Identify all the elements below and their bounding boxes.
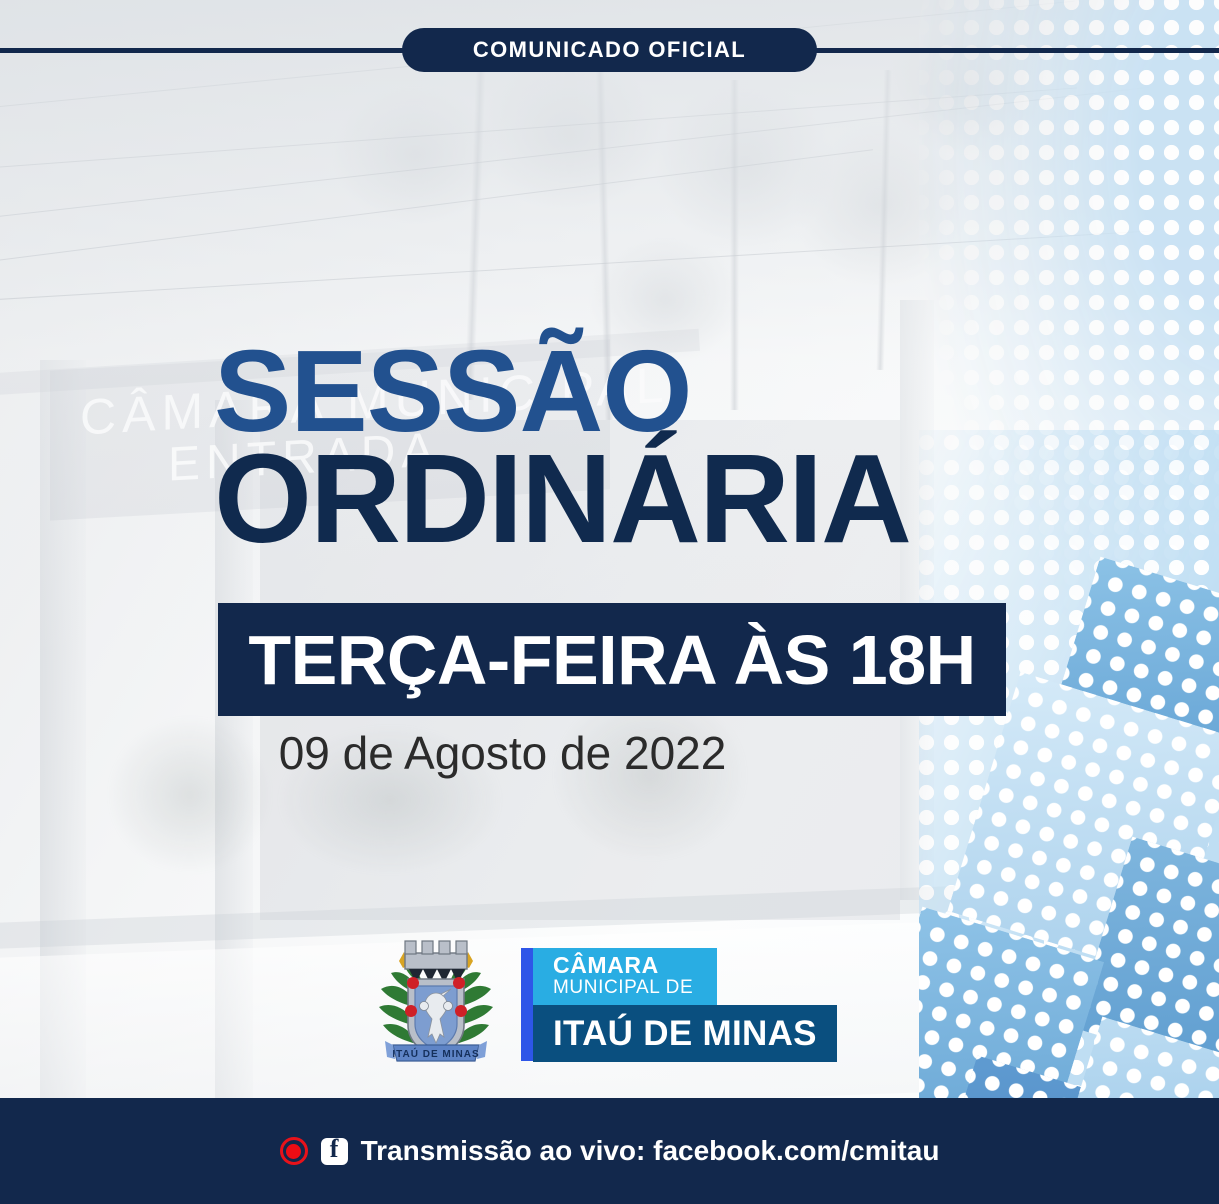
livestream-label[interactable]: Transmissão ao vivo: facebook.com/cmitau <box>361 1135 940 1167</box>
official-notice-badge: COMUNICADO OFICIAL <box>402 28 817 72</box>
palm-foliage <box>300 60 530 250</box>
coat-of-arms-icon: ITAÚ DE MINAS <box>375 933 497 1065</box>
brand-line-3: ITAÚ DE MINAS <box>553 1014 817 1054</box>
power-line <box>0 87 1077 169</box>
poster-canvas: CÂMARA MUNICIPAL ENTRADA <box>0 0 1219 1204</box>
header-rule-left <box>0 48 420 53</box>
palm-foliage <box>620 50 870 280</box>
facebook-icon[interactable] <box>321 1138 348 1165</box>
palm-trunk <box>876 70 892 370</box>
footer-bar: Transmissão ao vivo: facebook.com/cmitau <box>0 1098 1219 1204</box>
session-time-banner: TERÇA-FEIRA ÀS 18H <box>218 603 1006 716</box>
brand-line-1: CÂMARA <box>553 954 717 977</box>
headline-line-2: ORDINÁRIA <box>214 441 1014 557</box>
halftone-decoration-panel <box>919 0 1219 1204</box>
svg-text:ITAÚ DE MINAS: ITAÚ DE MINAS <box>392 1047 479 1060</box>
brand-block: ITAÚ DE MINAS CÂMARA MUNICIPAL DE ITAÚ D… <box>375 933 837 1065</box>
brand-accent-bar <box>521 948 533 1061</box>
session-time-label: TERÇA-FEIRA ÀS 18H <box>248 620 975 700</box>
record-icon <box>280 1137 308 1165</box>
headline-block: SESSÃO ORDINÁRIA <box>214 338 1014 557</box>
hedge-shrub <box>80 690 300 900</box>
official-notice-label: COMUNICADO OFICIAL <box>473 37 746 63</box>
header-rule-right <box>799 48 1219 53</box>
session-date: 09 de Agosto de 2022 <box>0 726 1219 780</box>
power-line <box>0 149 873 263</box>
footer-content: Transmissão ao vivo: facebook.com/cmitau <box>280 1135 940 1167</box>
session-date-label: 09 de Agosto de 2022 <box>279 726 727 780</box>
brand-line-2: MUNICIPAL DE <box>553 977 717 999</box>
brand-city-box: ITAÚ DE MINAS <box>533 1005 837 1062</box>
brand-lockup: CÂMARA MUNICIPAL DE ITAÚ DE MINAS <box>521 948 837 1062</box>
brand-camara-box: CÂMARA MUNICIPAL DE <box>533 948 717 1005</box>
